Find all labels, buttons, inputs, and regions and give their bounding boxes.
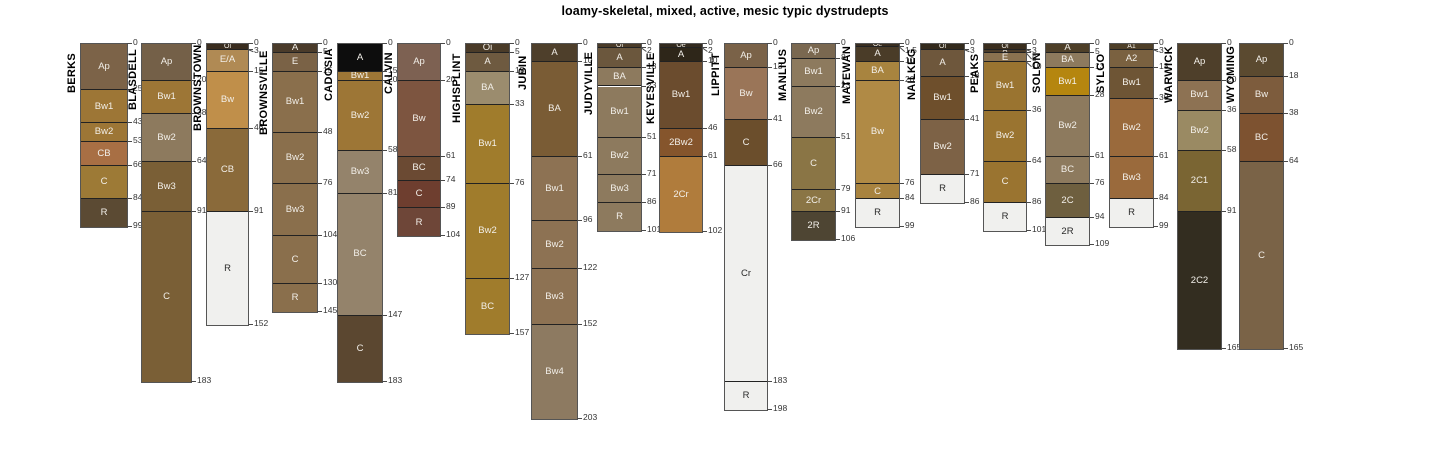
soil-horizon: Bw2	[792, 87, 835, 139]
profile-name-label: BERKS	[66, 43, 78, 103]
depth-tick	[127, 141, 132, 142]
soil-horizon: Bw	[725, 68, 767, 120]
soil-horizon: C	[792, 138, 835, 190]
depth-tick	[899, 183, 904, 184]
horizon-label: E	[292, 57, 298, 67]
horizon-label: E/A	[220, 55, 235, 65]
depth-tick	[382, 193, 387, 194]
soil-horizon: A	[921, 50, 964, 78]
horizon-label: A	[678, 50, 684, 60]
depth-tick-label: 74	[446, 175, 455, 184]
horizon-label: BA	[871, 66, 884, 76]
horizon-label: C	[743, 138, 750, 148]
soil-horizon: A	[338, 44, 382, 72]
soil-horizon: A	[532, 44, 577, 62]
soil-horizon: R	[81, 199, 127, 227]
profile-name-label: JUBIN	[517, 43, 529, 103]
depth-tick	[835, 58, 840, 59]
depth-tick	[1153, 226, 1158, 227]
soil-horizon: Oi	[466, 44, 509, 53]
depth-tick	[1221, 348, 1226, 349]
depth-tick	[899, 80, 904, 81]
depth-tick-label: 198	[773, 404, 787, 413]
horizon-label: R	[874, 208, 881, 218]
depth-tick	[440, 43, 445, 44]
profile-column: ABABw1Bw2BC2C2R	[1045, 43, 1090, 246]
horizon-label: R	[1002, 212, 1009, 222]
horizon-label: 2C2	[1191, 276, 1208, 286]
depth-tick	[1283, 161, 1288, 162]
horizon-label: C	[357, 344, 364, 354]
soil-horizon: A	[273, 44, 317, 53]
depth-tick	[1089, 183, 1094, 184]
horizon-label: Bw2	[1122, 123, 1140, 133]
depth-tick	[1283, 348, 1288, 349]
horizon-label: Bw2	[996, 131, 1014, 141]
horizon-label: R	[616, 212, 623, 222]
depth-tick	[1283, 113, 1288, 114]
depth-tick	[1153, 98, 1158, 99]
horizon-label: BA	[481, 83, 494, 93]
soil-horizon: C	[338, 316, 382, 383]
depth-tick	[702, 43, 707, 44]
depth-tick-label: 183	[388, 376, 402, 385]
horizon-label: Ap	[98, 62, 110, 72]
depth-tick	[1026, 161, 1031, 162]
horizon-label: Bw1	[478, 139, 496, 149]
depth-tick	[248, 71, 253, 72]
profile-column: ApBwBCC	[1239, 43, 1284, 350]
depth-tick	[641, 230, 646, 231]
horizon-label: Bw1	[351, 72, 369, 81]
soil-horizon: BC	[466, 279, 509, 334]
horizon-label: C	[1258, 251, 1265, 261]
depth-tick-label: 104	[446, 230, 460, 239]
soil-horizon: Bw1	[273, 72, 317, 133]
soil-horizon: R	[273, 284, 317, 312]
horizon-label: BC	[412, 163, 425, 173]
depth-tick	[835, 239, 840, 240]
depth-tick	[317, 132, 322, 133]
depth-tick	[509, 333, 514, 334]
horizon-label: Bw1	[1122, 78, 1140, 88]
profile-name-label: PEAKS	[969, 43, 981, 103]
depth-tick	[641, 202, 646, 203]
profile-name-label: SOLON	[1031, 43, 1043, 103]
horizon-label: A	[939, 58, 945, 68]
horizon-label: A	[292, 44, 298, 53]
soil-horizon: Bw1	[142, 81, 191, 114]
depth-tick-label: 102	[708, 226, 722, 235]
depth-tick	[1283, 43, 1288, 44]
depth-tick	[248, 324, 253, 325]
horizon-label: Bw	[871, 127, 884, 137]
depth-tick	[964, 119, 969, 120]
depth-tick	[835, 189, 840, 190]
depth-tick-label: 71	[970, 169, 979, 178]
profile-column: OiE/ABwCBR	[206, 43, 249, 326]
soil-horizon: Ap	[725, 44, 767, 68]
depth-tick-label: 94	[1095, 212, 1104, 221]
depth-tick-label: 203	[583, 413, 597, 422]
horizon-label: BC	[1255, 133, 1268, 143]
horizon-label: C	[101, 177, 108, 187]
depth-tick-label: 109	[1095, 239, 1109, 248]
soil-horizon: A2	[1110, 50, 1153, 68]
horizon-label: Bw3	[610, 184, 628, 194]
profile-name-label: WARWICK	[1163, 43, 1175, 106]
depth-tick	[899, 226, 904, 227]
soil-horizon: Bw2	[273, 133, 317, 185]
horizon-label: BC	[353, 249, 366, 259]
soil-horizon: C	[398, 181, 440, 209]
horizon-label: BC	[481, 302, 494, 312]
profile-column: OiAEBw1Bw2CR	[983, 43, 1027, 232]
horizon-label: R	[1128, 208, 1135, 218]
soil-horizon: Bw2	[921, 120, 964, 175]
horizon-label: Bw2	[545, 240, 563, 250]
soil-horizon: Bw1	[338, 72, 382, 81]
profile-name-label: BROWNSTOWN	[192, 43, 204, 133]
depth-tick-label: 127	[515, 273, 529, 282]
profile-column: OeABw12Bw22Cr	[659, 43, 703, 233]
horizon-label: Bw	[739, 89, 752, 99]
soil-horizon: R	[207, 212, 248, 325]
horizon-label: BA	[1061, 55, 1074, 65]
depth-tick	[1026, 110, 1031, 111]
depth-tick	[317, 52, 322, 53]
horizon-label: Bw2	[804, 107, 822, 117]
horizon-label: Bw1	[286, 97, 304, 107]
soil-horizon: Bw3	[273, 184, 317, 236]
horizon-label: 2R	[1061, 227, 1073, 237]
profile-name-label: KEYESVILLE	[645, 43, 657, 133]
horizon-label: R	[743, 391, 750, 401]
horizon-label: 2C	[1061, 196, 1073, 206]
depth-tick-label: 61	[708, 151, 717, 160]
depth-tick-label: 99	[905, 221, 914, 230]
soil-horizon: CB	[81, 142, 127, 166]
soil-horizon: Bw2	[984, 111, 1026, 163]
profile-name-label: BROWNSVILLE	[258, 43, 270, 142]
horizon-label: Ap	[413, 57, 425, 67]
profile-column: ApBw1Bw2C2Cr2R	[791, 43, 836, 241]
soil-horizon: E/A	[207, 50, 248, 72]
depth-tick	[1089, 67, 1094, 68]
depth-tick	[835, 137, 840, 138]
depth-tick-label: 64	[1289, 156, 1298, 165]
soil-horizon: BA	[1046, 53, 1089, 68]
depth-tick	[382, 315, 387, 316]
soil-horizon: Bw	[398, 81, 440, 157]
depth-tick-label: 99	[1159, 221, 1168, 230]
horizon-label: 2R	[807, 221, 819, 231]
horizon-label: Bw1	[804, 67, 822, 77]
profile-column: ApBwBCCR	[397, 43, 441, 237]
depth-tick-label: 183	[773, 376, 787, 385]
horizon-label: Bw2	[286, 153, 304, 163]
depth-tick	[1089, 43, 1094, 44]
horizon-label: A	[1064, 44, 1070, 53]
soil-horizon: A	[856, 47, 899, 63]
depth-tick	[964, 202, 969, 203]
horizon-label: A	[874, 49, 880, 59]
horizon-label: CB	[221, 165, 234, 175]
depth-tick-label: 122	[583, 263, 597, 272]
depth-tick	[641, 137, 646, 138]
soil-horizon: 2Cr	[792, 190, 835, 212]
depth-tick-label: 18	[1289, 71, 1298, 80]
depth-tick	[509, 278, 514, 279]
depth-tick-label: 145	[323, 306, 337, 315]
profile-name-label: CADOSIA	[323, 43, 335, 106]
depth-tick-label: 61	[1095, 151, 1104, 160]
soil-horizon: Bw2	[466, 184, 509, 278]
depth-tick	[577, 324, 582, 325]
horizon-label: Bw1	[1058, 77, 1076, 87]
soil-horizon: Bw	[207, 72, 248, 129]
profile-column: ABw1Bw2Bw3BCC	[337, 43, 383, 383]
horizon-label: R	[939, 184, 946, 194]
depth-tick-label: 96	[583, 215, 592, 224]
depth-tick	[191, 161, 196, 162]
horizon-label: A	[357, 53, 363, 63]
depth-tick	[440, 180, 445, 181]
depth-tick	[509, 43, 514, 44]
soil-horizon: R	[1110, 199, 1153, 227]
depth-tick-label: 51	[647, 132, 656, 141]
soil-horizon: A	[1046, 44, 1089, 53]
depth-tick	[317, 235, 322, 236]
horizon-label: Ap	[161, 57, 173, 67]
depth-tick	[835, 211, 840, 212]
depth-tick	[1153, 43, 1158, 44]
depth-tick-label: 91	[841, 206, 850, 215]
profile-column: OeABABwCR	[855, 43, 900, 228]
depth-tick	[577, 156, 582, 157]
soil-horizon: BA	[532, 62, 577, 156]
soil-horizon: A	[598, 48, 641, 68]
soil-horizon: R	[921, 175, 964, 203]
depth-tick	[1153, 198, 1158, 199]
depth-tick-label: 86	[1032, 197, 1041, 206]
soil-horizon: Ap	[398, 44, 440, 81]
depth-tick-label: 86	[647, 197, 656, 206]
soil-horizon: C	[142, 212, 191, 382]
soil-horizon: R	[984, 203, 1026, 231]
depth-tick	[1221, 150, 1226, 151]
soil-horizon: R	[598, 203, 641, 231]
horizon-label: Bw2	[351, 111, 369, 121]
horizon-label: Oi	[483, 44, 493, 53]
depth-tick-label: 66	[773, 160, 782, 169]
depth-tick	[248, 211, 253, 212]
depth-tick	[248, 128, 253, 129]
profile-column: ApBw1Bw22C12C2	[1177, 43, 1222, 350]
depth-tick	[577, 268, 582, 269]
soil-horizon: Cr	[725, 166, 767, 382]
horizon-label: Bw2	[610, 151, 628, 161]
profile-name-label: SYLCO	[1095, 43, 1107, 103]
horizon-label: Bw	[1255, 90, 1268, 100]
horizon-label: Ap	[740, 51, 752, 61]
soil-horizon: Bw2	[1110, 99, 1153, 156]
horizon-label: C	[416, 189, 423, 199]
depth-tick	[127, 226, 132, 227]
depth-tick	[317, 283, 322, 284]
depth-tick	[767, 43, 772, 44]
depth-tick-label: 104	[323, 230, 337, 239]
depth-tick	[1089, 156, 1094, 157]
soil-horizon: Ap	[81, 44, 127, 90]
horizon-label: A2	[1126, 54, 1138, 64]
depth-tick	[509, 71, 514, 72]
depth-tick-label: 106	[841, 234, 855, 243]
profile-name-label: CALVIN	[383, 43, 395, 103]
soil-horizon: CB	[207, 129, 248, 212]
depth-tick	[835, 43, 840, 44]
horizon-label: C	[1002, 177, 1009, 187]
soil-horizon: R	[398, 208, 440, 236]
soil-horizon: A	[466, 53, 509, 71]
soil-horizon: Bw3	[142, 162, 191, 212]
soil-horizon: 2Cr	[660, 157, 702, 233]
horizon-label: Bw	[412, 114, 425, 124]
depth-tick-label: 147	[388, 310, 402, 319]
horizon-label: R	[101, 208, 108, 218]
horizon-label: Bw3	[157, 182, 175, 192]
depth-tick	[767, 67, 772, 68]
soil-horizon: BC	[398, 157, 440, 181]
horizon-label: BA	[613, 72, 626, 82]
profile-column: ApBw1Bw2Bw3C	[141, 43, 192, 383]
soil-horizon: E	[984, 53, 1026, 62]
depth-tick-label: 41	[970, 114, 979, 123]
profile-column: ApBwCCrR	[724, 43, 768, 411]
depth-tick	[1153, 156, 1158, 157]
depth-tick	[767, 409, 772, 410]
profile-name-label: JUDYVILLE	[583, 43, 595, 124]
depth-tick	[767, 119, 772, 120]
horizon-label: 2Bw2	[669, 138, 693, 148]
soil-horizon: Bw2	[1178, 111, 1221, 152]
soil-horizon: BA	[856, 62, 899, 80]
horizon-label: C	[810, 159, 817, 169]
soil-horizon: A	[660, 48, 702, 63]
depth-tick	[248, 43, 253, 44]
depth-tick-label: 58	[1227, 145, 1236, 154]
horizon-label: Ap	[1256, 55, 1268, 65]
depth-tick	[1283, 76, 1288, 77]
depth-tick	[702, 61, 707, 62]
depth-tick-label: 91	[1227, 206, 1236, 215]
soil-horizon: BC	[338, 194, 382, 316]
depth-tick	[317, 311, 322, 312]
depth-tick	[899, 61, 904, 62]
depth-tick-label: 165	[1289, 343, 1303, 352]
depth-tick	[440, 235, 445, 236]
depth-tick	[382, 381, 387, 382]
depth-tick-label: 48	[323, 127, 332, 136]
soil-horizon: Bw3	[1110, 157, 1153, 200]
horizon-label: Bw1	[545, 184, 563, 194]
soil-horizon: Bw2	[532, 221, 577, 269]
depth-tick-label: 152	[254, 319, 268, 328]
depth-tick-label: 61	[446, 151, 455, 160]
depth-tick-label: 84	[905, 193, 914, 202]
profile-column: AEBw1Bw2Bw3CR	[272, 43, 318, 313]
depth-tick-label: 157	[515, 328, 529, 337]
depth-tick	[1153, 67, 1158, 68]
horizon-label: R	[224, 264, 231, 274]
horizon-label: Bw1	[1190, 90, 1208, 100]
soil-horizon: Bw1	[81, 90, 127, 123]
depth-tick-label: 183	[197, 376, 211, 385]
horizon-label: E	[1002, 53, 1008, 62]
depth-tick	[509, 104, 514, 105]
soil-horizon: E	[273, 53, 317, 71]
depth-tick	[577, 220, 582, 221]
depth-tick	[1089, 244, 1094, 245]
horizon-label: Bw2	[478, 226, 496, 236]
soil-horizon: R	[856, 199, 899, 227]
horizon-label: Cr	[741, 269, 751, 279]
depth-tick	[1089, 95, 1094, 96]
depth-tick	[964, 174, 969, 175]
horizon-label: BA	[548, 104, 561, 114]
horizon-label: 2C1	[1191, 176, 1208, 186]
depth-tick	[440, 80, 445, 81]
soil-horizon: Bw1	[466, 105, 509, 184]
depth-tick-label: 86	[970, 197, 979, 206]
soil-horizon: Ap	[1178, 44, 1221, 81]
horizon-label: 2Cr	[806, 196, 821, 206]
horizon-label: Ap	[808, 46, 820, 56]
soil-horizon: Bw3	[598, 175, 641, 203]
soil-horizon: Bw1	[1110, 68, 1153, 99]
depth-tick-label: 64	[1032, 156, 1041, 165]
horizon-label: Bw2	[933, 142, 951, 152]
profile-column: ApBw1Bw2CBCR	[80, 43, 128, 228]
depth-tick	[127, 198, 132, 199]
depth-tick-label: 46	[708, 123, 717, 132]
depth-tick	[1026, 230, 1031, 231]
horizon-label: Bw1	[95, 102, 113, 112]
soil-horizon: BC	[1046, 157, 1089, 185]
depth-tick-label: 76	[515, 178, 524, 187]
soil-horizon: Bw2	[81, 123, 127, 141]
depth-tick	[702, 231, 707, 232]
depth-tick	[835, 86, 840, 87]
profile-name-label: LIPPITT	[710, 43, 722, 106]
profile-name-label: BLASDELL	[127, 43, 139, 115]
soil-horizon: C	[856, 184, 899, 199]
depth-tick	[1089, 217, 1094, 218]
depth-tick	[440, 207, 445, 208]
depth-tick	[899, 198, 904, 199]
soil-horizon: C	[81, 166, 127, 199]
depth-tick	[191, 211, 196, 212]
profile-column: OiABw1Bw2R	[920, 43, 965, 204]
depth-tick-label: 84	[1159, 193, 1168, 202]
profile-name-label: MANLIUS	[777, 43, 789, 106]
soil-horizon: 2Bw2	[660, 129, 702, 157]
soil-horizon: Bw1	[1178, 81, 1221, 111]
soil-horizon: Bw3	[338, 151, 382, 194]
soil-horizon: Ap	[142, 44, 191, 81]
soil-horizon: Bw2	[598, 138, 641, 175]
depth-tick-label: 36	[1032, 105, 1041, 114]
